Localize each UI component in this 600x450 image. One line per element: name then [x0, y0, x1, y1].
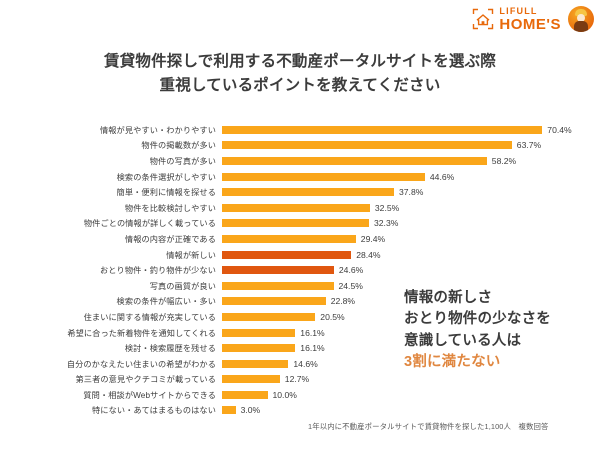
chart-row: 情報が見やすい・わかりやすい70.4% — [0, 122, 600, 138]
chart-bar — [222, 344, 295, 352]
chart-row-label: 質問・相談がWebサイトからできる — [0, 389, 222, 401]
chart-row: 特にない・あてはまるものはない3.0% — [0, 403, 600, 419]
chart-bar — [222, 126, 542, 134]
chart-value-label: 44.6% — [430, 172, 454, 182]
chart-bar — [222, 141, 512, 149]
chart-row-label: 希望に合った新着物件を通知してくれる — [0, 327, 222, 339]
chart-value-label: 16.1% — [300, 328, 324, 338]
chart-row: 物件を比較検討しやすい32.5% — [0, 200, 600, 216]
callout-line-2: おとり物件の少なさを — [404, 309, 551, 330]
chart-bar — [222, 313, 315, 321]
chart-row: 物件の掲載数が多い63.7% — [0, 138, 600, 154]
chart-value-label: 24.6% — [339, 265, 363, 275]
chart-row-label: 自分のかなえたい住まいの希望がわかる — [0, 358, 222, 370]
chart-row-bar-area: 63.7% — [222, 140, 600, 150]
page-title-line-2: 重視しているポイントを教えてください — [0, 74, 600, 98]
chart-row-bar-area: 37.8% — [222, 187, 600, 197]
chart-row-label: 情報が新しい — [0, 249, 222, 261]
chart-row-label: 物件を比較検討しやすい — [0, 202, 222, 214]
chart-row: 情報が新しい28.4% — [0, 247, 600, 263]
chart-row: 物件の写真が多い58.2% — [0, 153, 600, 169]
callout-line-1: 情報の新しさ — [404, 288, 551, 309]
chart-value-label: 58.2% — [492, 156, 516, 166]
chart-bar — [222, 219, 369, 227]
chart-row: 第三者の意見やクチコミが載っている12.7% — [0, 372, 600, 388]
chart-bar — [222, 297, 326, 305]
chart-bar — [222, 360, 288, 368]
footnote: 1年以内に不動産ポータルサイトで賃貸物件を探した1,100人 複数回答 — [308, 421, 548, 432]
chart-value-label: 24.5% — [339, 281, 363, 291]
chart-row: 情報の内容が正確である29.4% — [0, 231, 600, 247]
chart-bar — [222, 375, 280, 383]
chart-row-label: 検討・検索履歴を残せる — [0, 342, 222, 354]
chart-row-bar-area: 44.6% — [222, 172, 600, 182]
chart-row-bar-area: 24.6% — [222, 265, 600, 275]
chart-row-label: 簡単・便利に情報を探せる — [0, 186, 222, 198]
chart-value-label: 29.4% — [361, 234, 385, 244]
chart-row-label: 検索の条件選択がしやすい — [0, 171, 222, 183]
chart-value-label: 14.6% — [293, 359, 317, 369]
chart-row-bar-area: 28.4% — [222, 250, 600, 260]
chart-value-label: 20.5% — [320, 312, 344, 322]
chart-value-label: 10.0% — [273, 390, 297, 400]
mascot-body — [574, 21, 588, 32]
chart-value-label: 37.8% — [399, 187, 423, 197]
chart-bar — [222, 173, 425, 181]
chart-row: 簡単・便利に情報を探せる37.8% — [0, 184, 600, 200]
chart-value-label: 28.4% — [356, 250, 380, 260]
chart-row-label: 物件の写真が多い — [0, 155, 222, 167]
chart-row: 物件ごとの情報が詳しく載っている32.3% — [0, 216, 600, 232]
chart-row-label: おとり物件・釣り物件が少ない — [0, 264, 222, 276]
logo-homes-text: HOME'S — [499, 17, 561, 32]
chart-bar — [222, 329, 295, 337]
chart-row-bar-area: 70.4% — [222, 125, 600, 135]
chart-row-label: 第三者の意見やクチコミが載っている — [0, 373, 222, 385]
logo-lifull-text: LIFULL — [499, 7, 561, 16]
chart-bar-highlight — [222, 251, 351, 259]
chart-row-bar-area: 12.7% — [222, 374, 600, 384]
chart-value-label: 70.4% — [547, 125, 571, 135]
chart-row-label: 物件ごとの情報が詳しく載っている — [0, 217, 222, 229]
brand-logo: LIFULL HOME'S — [472, 6, 594, 32]
chart-row-label: 写真の画質が良い — [0, 280, 222, 292]
chart-row-label: 情報の内容が正確である — [0, 233, 222, 245]
chart-value-label: 32.3% — [374, 218, 398, 228]
chart-row-label: 特にない・あてはまるものはない — [0, 404, 222, 416]
chart-bar — [222, 406, 236, 414]
callout-line-4-accent: 3割に満たない — [404, 352, 551, 373]
house-bracket-icon — [472, 8, 494, 30]
chart-bar — [222, 204, 370, 212]
bar-chart: 情報が見やすい・わかりやすい70.4%物件の掲載数が多い63.7%物件の写真が多… — [0, 122, 600, 418]
chart-bar — [222, 282, 334, 290]
callout-line-3: 意識している人は — [404, 331, 551, 352]
chart-value-label: 3.0% — [241, 405, 261, 415]
chart-bar-highlight — [222, 266, 334, 274]
chart-bar — [222, 235, 356, 243]
chart-row-bar-area: 10.0% — [222, 390, 600, 400]
chart-row-bar-area: 3.0% — [222, 405, 600, 415]
chart-row-bar-area: 32.5% — [222, 203, 600, 213]
chart-row-bar-area: 32.3% — [222, 218, 600, 228]
chart-row: 検索の条件選択がしやすい44.6% — [0, 169, 600, 185]
chart-row-label: 住まいに関する情報が充実している — [0, 311, 222, 323]
page-title: 賃貸物件探しで利用する不動産ポータルサイトを選ぶ際 重視しているポイントを教えて… — [0, 50, 600, 98]
chart-value-label: 63.7% — [517, 140, 541, 150]
chart-value-label: 22.8% — [331, 296, 355, 306]
chart-bar — [222, 391, 268, 399]
callout-annotation: 情報の新しさ おとり物件の少なさを 意識している人は 3割に満たない — [404, 288, 551, 374]
chart-row-bar-area: 29.4% — [222, 234, 600, 244]
logo-wordmark: LIFULL HOME'S — [499, 7, 561, 32]
chart-row-label: 検索の条件が幅広い・多い — [0, 295, 222, 307]
chart-row: おとり物件・釣り物件が少ない24.6% — [0, 262, 600, 278]
chart-bar — [222, 157, 487, 165]
chart-row-label: 情報が見やすい・わかりやすい — [0, 124, 222, 136]
chart-row-bar-area: 58.2% — [222, 156, 600, 166]
chart-value-label: 32.5% — [375, 203, 399, 213]
chart-value-label: 16.1% — [300, 343, 324, 353]
chart-row: 質問・相談がWebサイトからできる10.0% — [0, 387, 600, 403]
chart-value-label: 12.7% — [285, 374, 309, 384]
chart-bar — [222, 188, 394, 196]
chart-row-label: 物件の掲載数が多い — [0, 139, 222, 151]
page-title-line-1: 賃貸物件探しで利用する不動産ポータルサイトを選ぶ際 — [0, 50, 600, 74]
mascot-badge-icon — [568, 6, 594, 32]
